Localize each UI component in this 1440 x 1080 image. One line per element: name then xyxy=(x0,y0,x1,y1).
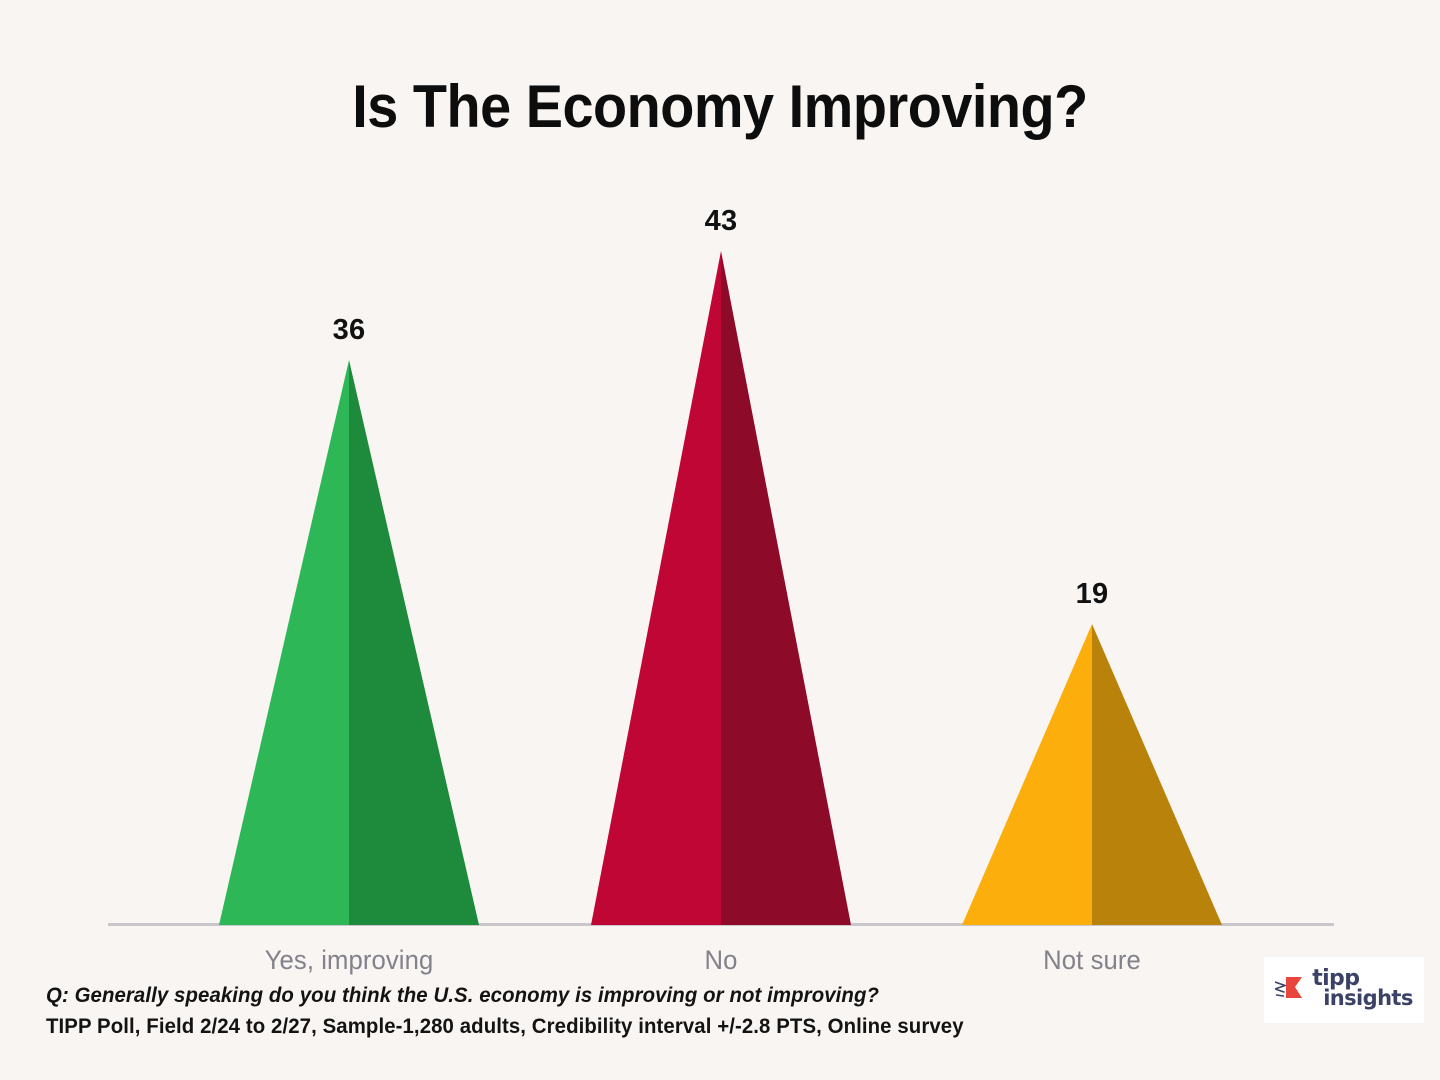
bar-group-no[interactable]: 43 xyxy=(591,225,851,925)
triangle-right-face-yes xyxy=(349,360,479,925)
triangle-svg-yes-improving xyxy=(219,360,479,925)
triangle-svg-not-sure xyxy=(962,624,1222,925)
value-label-yes-improving: 36 xyxy=(219,314,479,347)
tipp-insights-logo[interactable]: tipp insights xyxy=(1264,957,1424,1023)
triangle-no xyxy=(591,251,851,925)
bar-group-yes-improving[interactable]: 36 xyxy=(219,225,479,925)
plot-area: 36 43 19 xyxy=(0,0,1440,1080)
logo-inner: tipp insights xyxy=(1275,969,1413,1009)
triangle-right-face-not-sure xyxy=(1092,624,1222,925)
logo-wordmark: tipp insights xyxy=(1312,969,1413,1009)
footnotes: Q: Generally speaking do you think the U… xyxy=(46,984,1046,1039)
pennant-arrow-icon xyxy=(1275,976,1309,1002)
triangle-right-face-no xyxy=(721,251,851,925)
triangle-yes-improving xyxy=(219,360,479,925)
triangle-left-face-no xyxy=(591,251,721,925)
value-label-not-sure: 19 xyxy=(962,578,1222,611)
footnote-source: TIPP Poll, Field 2/24 to 2/27, Sample-1,… xyxy=(46,1015,1016,1039)
category-label-no: No xyxy=(579,945,864,976)
category-label-not-sure: Not sure xyxy=(950,945,1235,976)
triangle-svg-no xyxy=(591,251,851,925)
footnote-question: Q: Generally speaking do you think the U… xyxy=(46,984,1016,1008)
category-label-yes-improving: Yes, improving xyxy=(207,945,492,976)
value-label-no: 43 xyxy=(591,205,851,238)
triangle-left-face-yes xyxy=(219,360,349,925)
bar-group-not-sure[interactable]: 19 xyxy=(962,225,1222,925)
chart-canvas: Is The Economy Improving? 36 43 xyxy=(0,0,1440,1080)
logo-line-2: insights xyxy=(1323,989,1413,1009)
triangle-left-face-not-sure xyxy=(962,624,1092,925)
triangle-not-sure xyxy=(962,624,1222,925)
